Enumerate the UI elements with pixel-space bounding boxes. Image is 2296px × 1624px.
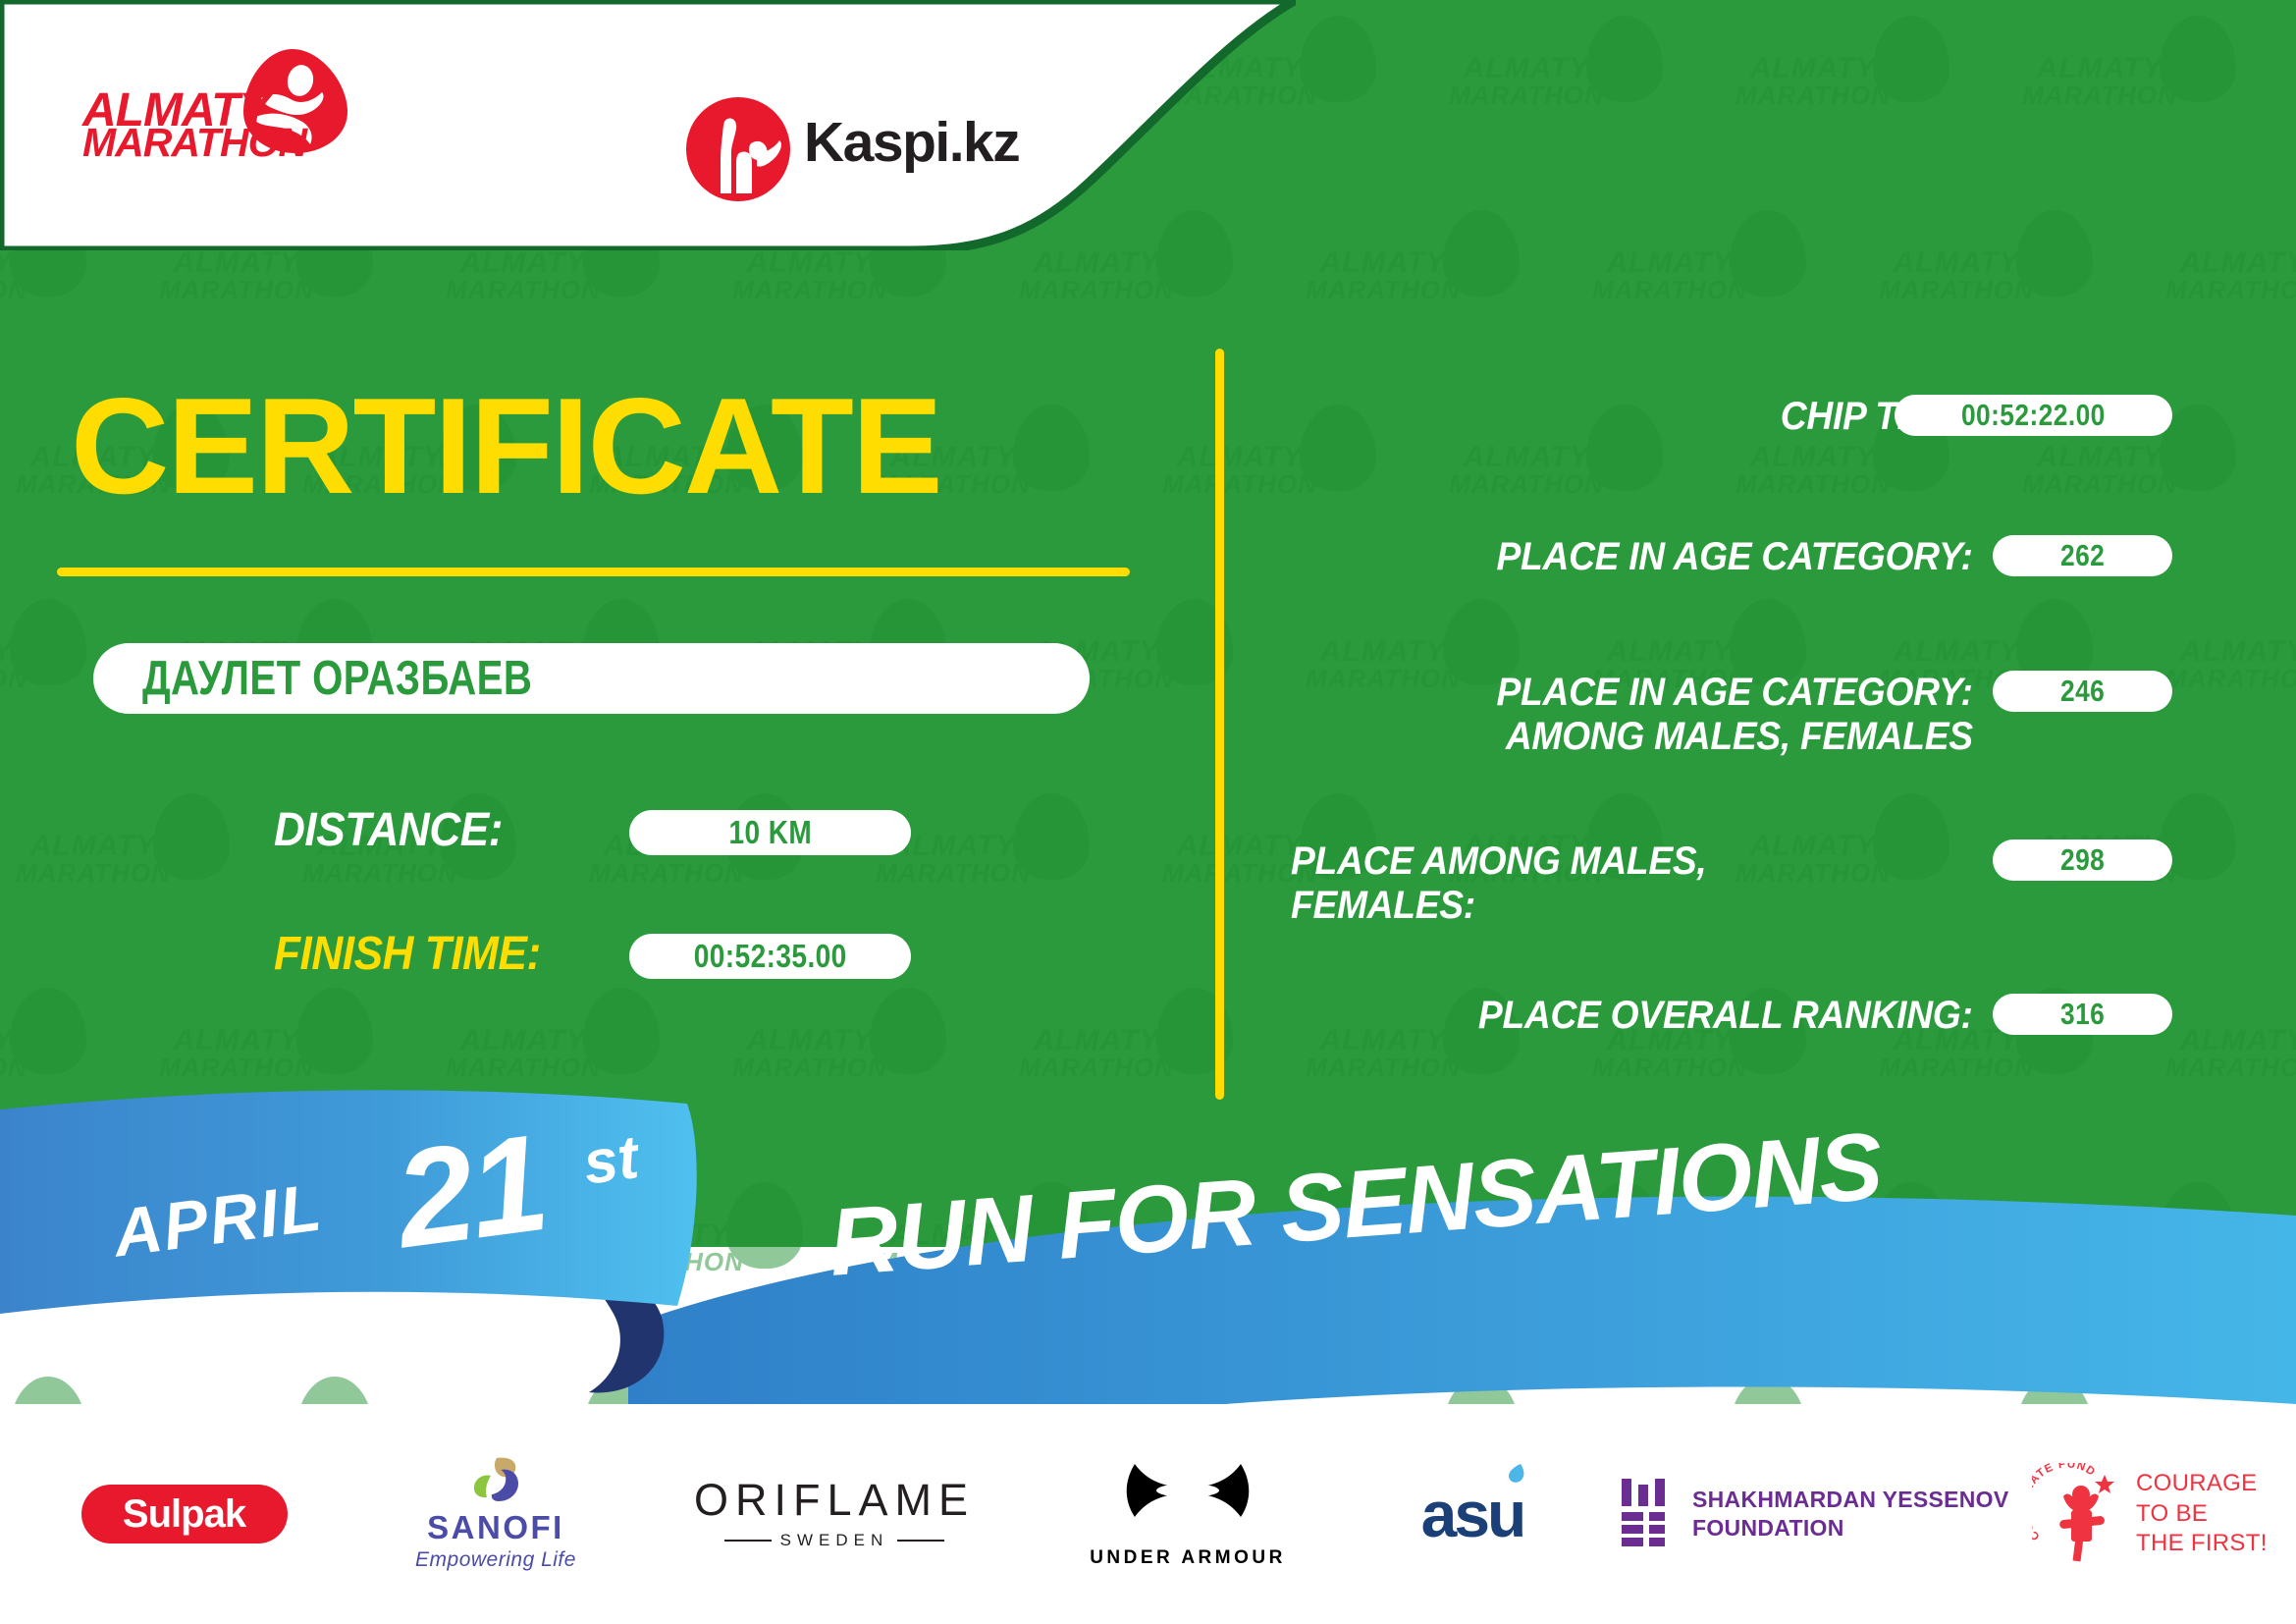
almaty-logo-line2: MARATHON (82, 120, 308, 159)
stat-label: PLACE IN AGE CATEGORY: (1497, 535, 1973, 579)
watermark-text: ALMATYMARATHON (717, 249, 903, 301)
oriflame-rule-right (897, 1540, 944, 1542)
sponsor-asu-label: asu (1421, 1482, 1524, 1546)
watermark-text: ALMATYMARATHON (1003, 1027, 1190, 1079)
sanofi-bird-icon (461, 1456, 530, 1507)
kaspi-family-circle-icon (680, 91, 796, 207)
sponsor-yessenov-foundation: SHAKHMARDAN YESSENOV FOUNDATION (1620, 1404, 2012, 1624)
certificate-page: ALMATYMARATHONALMATYMARATHONALMATYMARATH… (0, 0, 2296, 1624)
watermark-text: ALMATYMARATHON (0, 833, 187, 885)
watermark-text: ALMATYMARATHON (2150, 638, 2296, 690)
distance-value: 10 KM (728, 814, 812, 851)
oriflame-rule-left (724, 1540, 772, 1542)
watermark-text: ALMATYMARATHON (1433, 55, 1620, 107)
stat-place-age-category-among-pill: 246 (1993, 671, 2172, 712)
sponsor-sanofi: SANOFI Empowering Life (383, 1404, 609, 1624)
sponsor-yessenov-line1: SHAKHMARDAN YESSENOV (1692, 1486, 2009, 1514)
watermark-text: ALMATYMARATHON (1290, 1027, 1476, 1079)
stat-label-line2: FEMALES: (1291, 884, 1475, 928)
stat-label-line1: PLACE AMONG MALES, (1291, 839, 1706, 884)
kaspi-wordmark: Kaspi.kz (804, 110, 1019, 175)
courage-runner-icon: CORPORATE FUND (2032, 1463, 2122, 1565)
watermark-text: ALMATYMARATHON (0, 638, 43, 690)
vertical-divider (1215, 349, 1224, 1100)
sponsor-under-armour: UNDER ARMOUR (1070, 1404, 1306, 1624)
watermark-text: ALMATYMARATHON (1003, 249, 1190, 301)
sponsor-bar: Sulpak SANOFI Empowering Life ORIFLAME S… (0, 1404, 2296, 1624)
stat-place-among-males-females-pill: 298 (1993, 839, 2172, 881)
watermark-text: ALMATYMARATHON (1290, 249, 1476, 301)
sponsor-sulpak-label: Sulpak (123, 1492, 245, 1537)
finish-time-label: FINISH TIME: (274, 927, 541, 981)
finish-time-value-pill: 00:52:35.00 (629, 934, 911, 979)
page-title: CERTIFICATE (71, 378, 941, 514)
almaty-marathon-logo: ALMATY MARATHON (69, 41, 363, 159)
participant-name: ДАУЛЕТ ОРАЗБАЕВ (142, 651, 532, 706)
sponsor-sanofi-tagline: Empowering Life (415, 1548, 576, 1572)
courage-line2: TO BE (2136, 1499, 2268, 1530)
watermark-text: ALMATYMARATHON (1720, 444, 1906, 496)
sponsor-asu: asu (1355, 1404, 1590, 1624)
distance-label: DISTANCE: (274, 803, 503, 857)
stat-label: PLACE OVERALL RANKING: (1478, 994, 1973, 1038)
yessenov-bars-icon (1620, 1479, 1671, 1549)
stat-place-age-category-pill: 262 (1993, 535, 2172, 576)
distance-value-pill: 10 KM (629, 810, 911, 855)
sponsor-oriflame-tagline: SWEDEN (780, 1531, 889, 1550)
watermark-text: ALMATYMARATHON (1863, 249, 2050, 301)
sponsor-yessenov-line2: FOUNDATION (1692, 1514, 2009, 1543)
watermark-text: ALMATYMARATHON (1576, 249, 1763, 301)
watermark-text: ALMATYMARATHON (2150, 249, 2296, 301)
watermark-text: ALMATYMARATHON (143, 249, 330, 301)
asu-drop-icon (1504, 1462, 1527, 1489)
watermark-text: ALMATYMARATHON (1720, 833, 1906, 885)
under-armour-icon (1109, 1460, 1266, 1537)
courage-line1: COURAGE (2136, 1469, 2268, 1499)
watermark-text: ALMATYMARATHON (2150, 1027, 2296, 1079)
watermark-text: ALMATYMARATHON (1433, 444, 1620, 496)
watermark-text: ALMATYMARATHON (2006, 55, 2193, 107)
finish-time-value: 00:52:35.00 (694, 938, 847, 975)
ribbon-day: 21 (387, 1103, 554, 1279)
stat-value: 262 (2060, 538, 2105, 573)
title-underline (57, 568, 1130, 576)
stat-value: 246 (2060, 674, 2105, 709)
stat-label-line2: AMONG MALES, FEMALES (1506, 715, 1973, 759)
stat-place-overall-ranking-pill: 316 (1993, 994, 2172, 1035)
sponsor-sanofi-label: SANOFI (415, 1511, 576, 1543)
watermark-text: ALMATYMARATHON (430, 1027, 616, 1079)
distance-row: DISTANCE: (274, 803, 522, 857)
watermark-text: ALMATYMARATHON (717, 1027, 903, 1079)
stat-chip-time-pill: 00:52:22.00 (1895, 395, 2172, 436)
watermark-text: ALMATYMARATHON (1720, 55, 1906, 107)
sponsor-courage-to-be-the-first: CORPORATE FUND COURAGE TO BE THE FIRST! (2032, 1404, 2287, 1624)
watermark-text: ALMATYMARATHON (2006, 444, 2193, 496)
watermark-text: ALMATYMARATHON (0, 249, 43, 301)
sponsor-sulpak: Sulpak (74, 1404, 294, 1624)
sponsor-oriflame-label: ORIFLAME (694, 1478, 975, 1522)
watermark-text: ALMATYMARATHON (0, 1027, 43, 1079)
finish-time-row: FINISH TIME: (274, 927, 563, 981)
stat-value: 316 (2060, 997, 2105, 1032)
stat-value: 00:52:22.00 (1961, 398, 2106, 433)
courage-line3: THE FIRST! (2136, 1529, 2268, 1559)
watermark-text: ALMATYMARATHON (143, 1027, 330, 1079)
watermark-text: ALMATYMARATHON (1290, 638, 1476, 690)
sponsor-oriflame: ORIFLAME SWEDEN (687, 1404, 982, 1624)
stat-label-line1: PLACE IN AGE CATEGORY: (1497, 671, 1973, 715)
ribbon-ordinal: st (579, 1122, 642, 1199)
sponsor-under-armour-label: UNDER ARMOUR (1090, 1547, 1286, 1569)
watermark-text: ALMATYMARATHON (430, 249, 616, 301)
watermark-text: ALMATYMARATHON (1147, 444, 1333, 496)
stat-value: 298 (2060, 842, 2105, 878)
